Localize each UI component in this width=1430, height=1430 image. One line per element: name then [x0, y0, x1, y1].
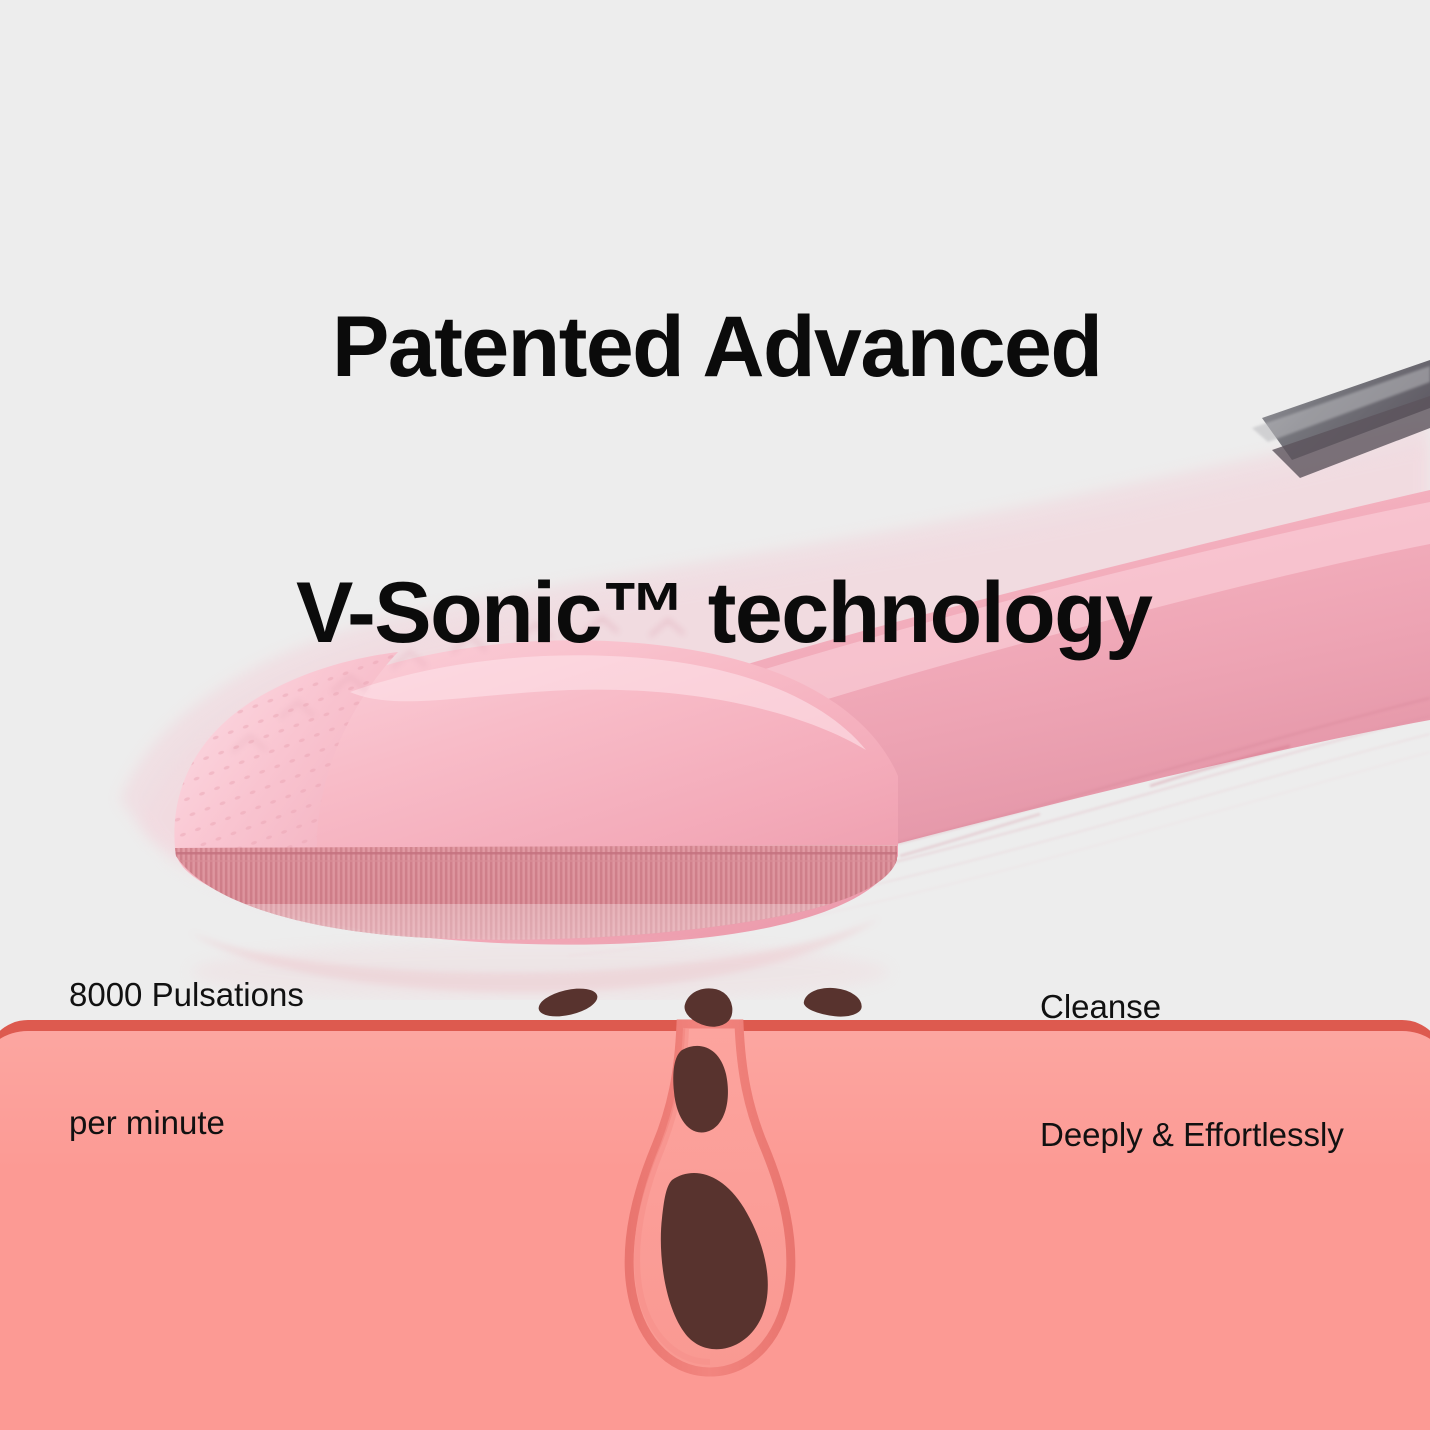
pulsation-rate-caption: 8000 Pulsations per minute [69, 888, 304, 1231]
product-feature-graphic: Patented Advanced V-Sonic™ technology 80… [0, 0, 1430, 1430]
page-title: Patented Advanced V-Sonic™ technology [296, 126, 1296, 835]
headline-line-2: V-Sonic™ technology [296, 569, 1296, 658]
pulsation-rate-line-1: 8000 Pulsations [69, 974, 304, 1017]
pulsation-rate-line-2: per minute [69, 1102, 304, 1145]
pore-funnel [560, 1012, 860, 1430]
cleansing-benefit-line-2: Deeply & Effortlessly [1040, 1114, 1344, 1157]
cleansing-benefit-line-1: Cleanse [1040, 986, 1344, 1029]
headline-line-1: Patented Advanced [296, 303, 1296, 392]
cleansing-benefit-caption: Cleanse Deeply & Effortlessly [1040, 900, 1344, 1243]
